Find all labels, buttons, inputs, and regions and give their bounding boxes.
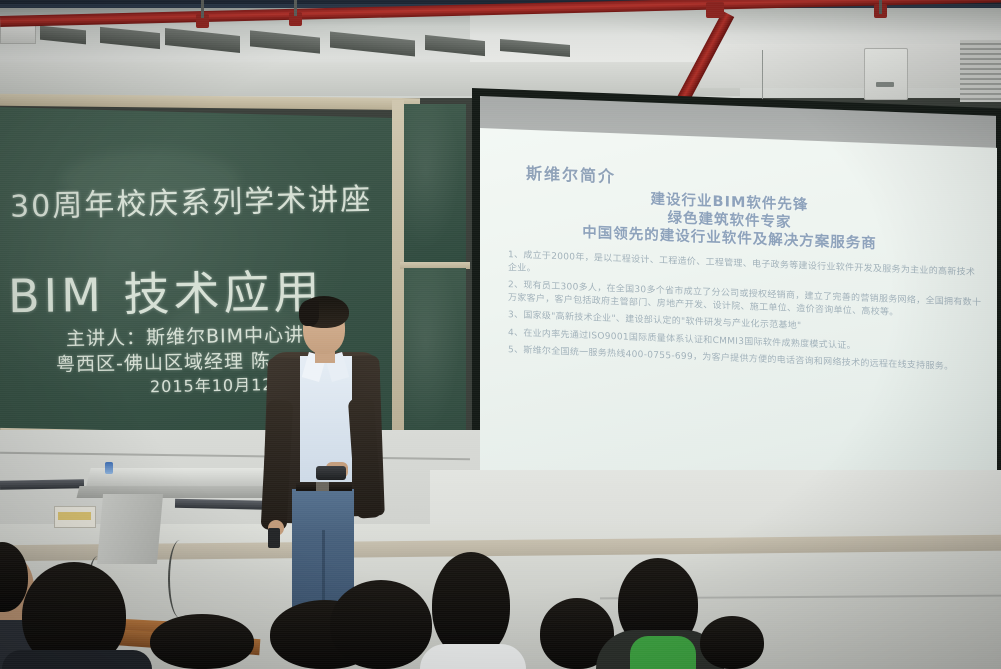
pipe-hanger	[294, 0, 297, 16]
audience-head	[700, 616, 764, 669]
presenter-belt-buckle	[316, 482, 329, 491]
water-bottle	[105, 462, 113, 474]
soffit-right	[700, 44, 1001, 88]
audience-shoulders	[2, 650, 152, 669]
pipe-hanger	[879, 0, 882, 14]
blackboard-panel-lower-right	[404, 268, 466, 448]
presentation-remote	[316, 466, 346, 480]
audience-jacket-green	[630, 636, 696, 669]
audience-head	[432, 552, 510, 658]
wall-notice-sign	[54, 506, 96, 528]
blackboard-line-2: BIM 技术应用	[8, 256, 324, 326]
audience-head	[150, 614, 254, 669]
blackboard-line-1: 30周年校庆系列学术讲座	[10, 174, 373, 226]
presenter-hair-side	[299, 300, 319, 326]
slide-bullet-list: 1、成立于2000年，是以工程设计、工程造价、工程管理、电子政务等建设行业软件开…	[508, 249, 983, 380]
presenter-jeans-seam	[322, 530, 325, 610]
lectern-pedestal	[97, 494, 163, 564]
lecture-hall-photo: 30周年校庆系列学术讲座 BIM 技术应用 主讲人：斯维尔BIM中心讲师 粤西区…	[0, 0, 1001, 669]
presenter-handheld-object	[268, 528, 280, 548]
blackboard-frame-divider	[392, 100, 404, 460]
pipe-collar	[706, 2, 724, 18]
podium-rail-left	[0, 479, 84, 489]
floor-cable	[168, 540, 192, 618]
soffit-left	[0, 62, 740, 96]
wall-air-conditioner	[864, 48, 908, 100]
wall-vent-grille	[960, 40, 1001, 102]
audience-head	[330, 580, 432, 669]
pipe-hanger	[201, 0, 204, 18]
wall-notice-sign-band	[58, 512, 91, 520]
audience-shoulders	[420, 644, 526, 669]
slide-title: 斯维尔简介	[526, 160, 616, 187]
ac-indicator	[876, 82, 894, 87]
projected-slide: 斯维尔简介 建设行业BIM软件先锋 绿色建筑软件专家 中国领先的建设行业软件及解…	[480, 128, 997, 508]
blackboard-panel-upper-right	[404, 104, 466, 264]
slide-tagline-block: 建设行业BIM软件先锋 绿色建筑软件专家 中国领先的建设行业软件及解决方案服务商	[480, 184, 979, 257]
